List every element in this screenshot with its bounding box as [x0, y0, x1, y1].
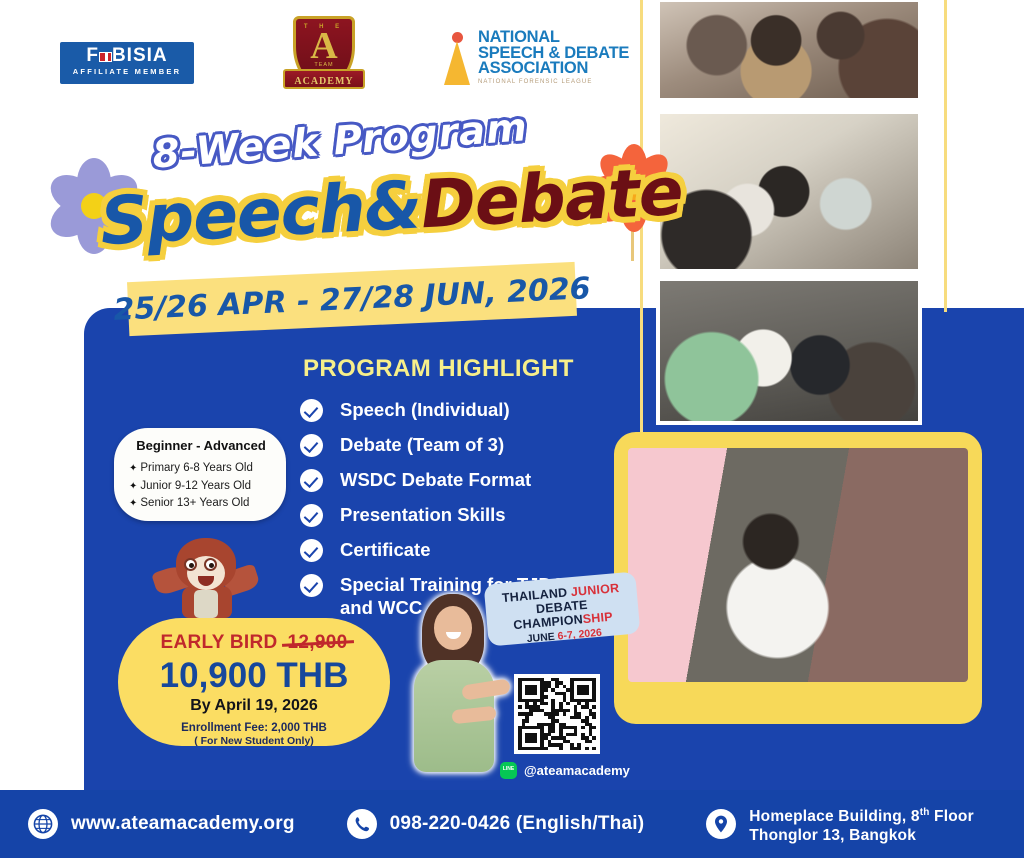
list-item: Presentation Skills [300, 503, 600, 527]
nsda-logo: NATIONAL SPEECH & DEBATE ASSOCIATION NAT… [440, 30, 630, 92]
globe-icon [28, 809, 58, 839]
address-line-1: Homeplace Building, 8th Floor [749, 803, 974, 826]
level-label: Junior 9-12 Years Old [140, 480, 251, 492]
level-label: Senior 13+ Years Old [140, 497, 249, 509]
new-price: 10,900 THB [118, 656, 390, 696]
old-price: 12,900 [288, 632, 348, 654]
classroom-photo-3 [656, 277, 922, 425]
level-item: ✦Junior 9-12 Years Old [129, 478, 273, 496]
fobisia-tagline: AFFILIATE MEMBER [60, 67, 194, 76]
check-circle-icon [300, 434, 323, 457]
list-item: Certificate [300, 538, 600, 562]
address-ordinal: th [920, 807, 930, 818]
enrollment-note: ( For New Student Only) [118, 735, 390, 747]
title-debate: Debate [419, 153, 684, 244]
shield-letter: A [296, 30, 352, 62]
debate-speaker-photo [628, 448, 968, 682]
footer-phone[interactable]: 098-220-0426 (English/Thai) [347, 809, 645, 839]
level-label: Primary 6-8 Years Old [140, 462, 253, 474]
nsda-line-3: ASSOCIATION [478, 61, 629, 77]
debate-speaker-photo-frame [614, 432, 982, 724]
line-icon [500, 762, 517, 779]
nsda-figure-icon [440, 32, 474, 88]
check-circle-icon [300, 469, 323, 492]
ateam-academy-logo: T H E A TEAM ACADEMY [283, 12, 365, 102]
diamond-bullet-icon: ✦ [129, 481, 137, 492]
address-text: Homeplace Building, 8th Floor Thonglor 1… [749, 803, 974, 845]
list-item: Speech (Individual) [300, 398, 600, 422]
nsda-subtitle: NATIONAL FORENSIC LEAGUE [478, 79, 629, 85]
diamond-bullet-icon: ✦ [129, 463, 137, 474]
logo-row: FBISIA AFFILIATE MEMBER T H E A TEAM ACA… [0, 0, 640, 110]
early-bird-label: EARLY BIRD [161, 632, 278, 653]
divider-line-right [944, 0, 947, 312]
price-deadline: By April 19, 2026 [118, 697, 390, 715]
shield-ribbon-text: ACADEMY [294, 76, 353, 87]
website-text: www.ateamacademy.org [71, 813, 295, 835]
check-circle-icon [300, 399, 323, 422]
check-circle-icon [300, 574, 323, 597]
check-circle-icon [300, 504, 323, 527]
level-info-box: Beginner - Advanced ✦Primary 6-8 Years O… [114, 428, 286, 521]
footer-contact-bar: www.ateamacademy.org 098-220-0426 (Engli… [0, 790, 1024, 858]
highlight-label: Speech (Individual) [340, 398, 510, 421]
tjdc-championship-badge: THAILAND JUNIOR DEBATE CHAMPIONSHIP JUNE… [484, 571, 641, 646]
address-building: Homeplace Building, 8 [749, 808, 919, 825]
highlight-label: WSDC Debate Format [340, 468, 531, 491]
highlight-label: Debate (Team of 3) [340, 433, 504, 456]
title-speech: Speech [98, 169, 366, 260]
level-item: ✦Senior 13+ Years Old [129, 495, 273, 513]
location-pin-icon [706, 809, 736, 839]
nsda-wordmark: NATIONAL SPEECH & DEBATE ASSOCIATION NAT… [478, 30, 629, 85]
qr-code-grid [518, 678, 596, 750]
check-circle-icon [300, 539, 323, 562]
qr-code[interactable] [514, 674, 600, 754]
footer-address[interactable]: Homeplace Building, 8th Floor Thonglor 1… [706, 803, 974, 845]
line-handle: @ateamacademy [524, 763, 630, 778]
level-box-title: Beginner - Advanced [129, 438, 273, 453]
address-line-2: Thonglor 13, Bangkok [749, 826, 974, 845]
shield-ribbon: ACADEMY [283, 69, 365, 89]
diamond-bullet-icon: ✦ [129, 498, 137, 509]
promo-poster: FBISIA AFFILIATE MEMBER T H E A TEAM ACA… [0, 0, 1024, 858]
tjdc-ship: SHIP [582, 610, 613, 627]
uk-flag-icon [99, 52, 112, 62]
highlight-label: Certificate [340, 538, 430, 561]
phone-icon [347, 809, 377, 839]
fobisia-logo: FBISIA AFFILIATE MEMBER [60, 42, 194, 84]
line-contact[interactable]: @ateamacademy [500, 762, 630, 779]
list-item: Debate (Team of 3) [300, 433, 600, 457]
address-floor: Floor [930, 808, 974, 825]
footer-website[interactable]: www.ateamacademy.org [28, 809, 295, 839]
list-item: WSDC Debate Format [300, 468, 600, 492]
program-highlight-heading: PROGRAM HIGHLIGHT [303, 355, 574, 383]
classroom-photo-2 [656, 110, 922, 273]
fobisia-wordmark: FBISIA [60, 46, 194, 66]
title-ampersand: & [362, 167, 423, 247]
classroom-photo-1 [656, 0, 922, 102]
phone-text: 098-220-0426 (English/Thai) [390, 813, 645, 835]
highlight-label: Presentation Skills [340, 503, 506, 526]
enrollment-fee: Enrollment Fee: 2,000 THB [118, 722, 390, 734]
early-bird-row: EARLY BIRD12,900 [118, 632, 390, 654]
early-bird-price-card: EARLY BIRD12,900 10,900 THB By April 19,… [118, 618, 390, 746]
shield-team-text: TEAM [296, 62, 352, 68]
dragon-mascot-icon [160, 536, 252, 620]
level-item: ✦Primary 6-8 Years Old [129, 460, 273, 478]
